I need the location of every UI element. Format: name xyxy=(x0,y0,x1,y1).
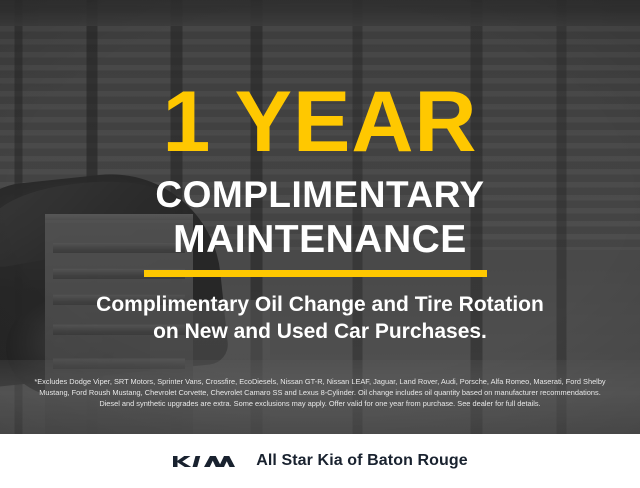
headline-primary: 1 YEAR xyxy=(0,79,640,165)
disclaimer-line-3: Diesel and synthetic upgrades are extra.… xyxy=(14,398,626,409)
offer-line-2: on New and Used Car Purchases. xyxy=(20,318,620,345)
headline-secondary-line1: COMPLIMENTARY xyxy=(0,176,640,213)
disclaimer-line-2: Mustang, Ford Roush Mustang, Chevrolet C… xyxy=(14,387,626,398)
kia-logo-icon xyxy=(172,453,238,470)
banner-content: 1 YEAR COMPLIMENTARY MAINTENANCE Complim… xyxy=(0,0,640,434)
dealer-footer: All Star Kia of Baton Rouge xyxy=(0,434,640,488)
offer-description: Complimentary Oil Change and Tire Rotati… xyxy=(20,291,620,345)
promotional-banner: 1 YEAR COMPLIMENTARY MAINTENANCE Complim… xyxy=(0,0,640,488)
offer-line-1: Complimentary Oil Change and Tire Rotati… xyxy=(20,291,620,318)
disclaimer-text: *Excludes Dodge Viper, SRT Motors, Sprin… xyxy=(14,376,626,410)
headline-secondary-line2: MAINTENANCE xyxy=(0,220,640,259)
dealer-name-label: All Star Kia of Baton Rouge xyxy=(256,452,468,470)
accent-divider-bar xyxy=(144,270,487,277)
disclaimer-line-1: *Excludes Dodge Viper, SRT Motors, Sprin… xyxy=(14,376,626,387)
